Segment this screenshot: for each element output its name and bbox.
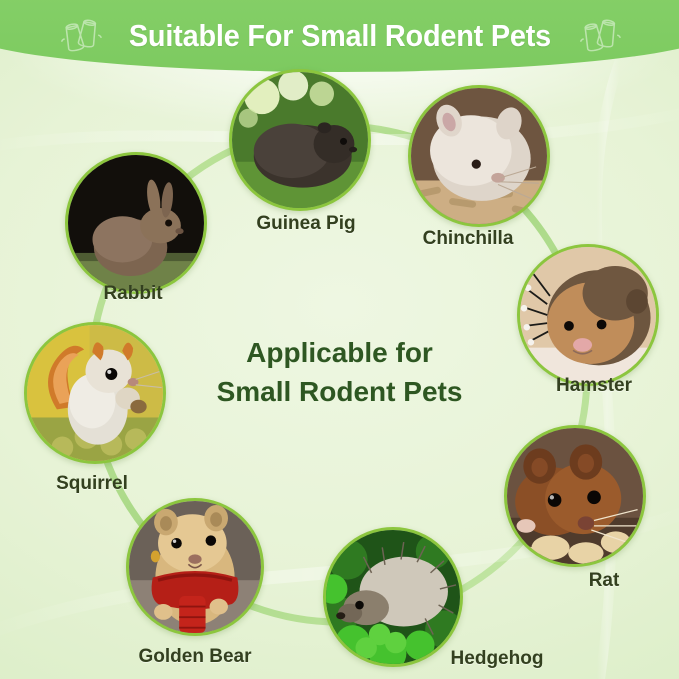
animal-photo-hamster[interactable]	[517, 244, 659, 386]
animal-illustration-golden-bear	[129, 501, 261, 633]
animal-illustration-guinea-pig	[232, 72, 368, 208]
animal-label-chinchilla: Chinchilla	[423, 228, 514, 250]
animal-illustration-hamster	[520, 247, 656, 383]
animal-photo-hedgehog[interactable]	[323, 527, 463, 667]
animal-photo-squirrel[interactable]	[24, 322, 166, 464]
animal-label-hamster: Hamster	[556, 375, 632, 397]
stacked-cups-icon-left	[57, 13, 103, 59]
header-banner: Suitable For Small Rodent Pets	[0, 0, 679, 72]
animal-illustration-rat	[507, 428, 643, 564]
animal-illustration-rabbit	[68, 155, 204, 291]
animal-label-rat: Rat	[589, 570, 620, 592]
center-caption-line2: Small Rodent Pets	[217, 373, 463, 412]
banner-title: Suitable For Small Rodent Pets	[128, 18, 550, 54]
stacked-cups-icon-right	[576, 13, 622, 59]
animal-label-squirrel: Squirrel	[56, 473, 128, 495]
animal-illustration-hedgehog	[326, 530, 460, 664]
animal-illustration-squirrel	[27, 325, 163, 461]
animal-label-rabbit: Rabbit	[103, 283, 162, 305]
animal-label-golden-bear: Golden Bear	[139, 646, 252, 668]
animal-label-hedgehog: Hedgehog	[451, 648, 544, 670]
center-caption: Applicable for Small Rodent Pets	[217, 334, 463, 411]
poster-root: Suitable For Small Rodent Pets Applicabl…	[0, 0, 679, 679]
animal-photo-rat[interactable]	[504, 425, 646, 567]
animal-photo-chinchilla[interactable]	[408, 85, 550, 227]
animal-photo-guinea-pig[interactable]	[229, 69, 371, 211]
center-caption-line1: Applicable for	[217, 334, 463, 373]
animal-illustration-chinchilla	[411, 88, 547, 224]
animal-photo-golden-bear[interactable]	[126, 498, 264, 636]
animal-label-guinea-pig: Guinea Pig	[256, 213, 355, 235]
animal-photo-rabbit[interactable]	[65, 152, 207, 294]
